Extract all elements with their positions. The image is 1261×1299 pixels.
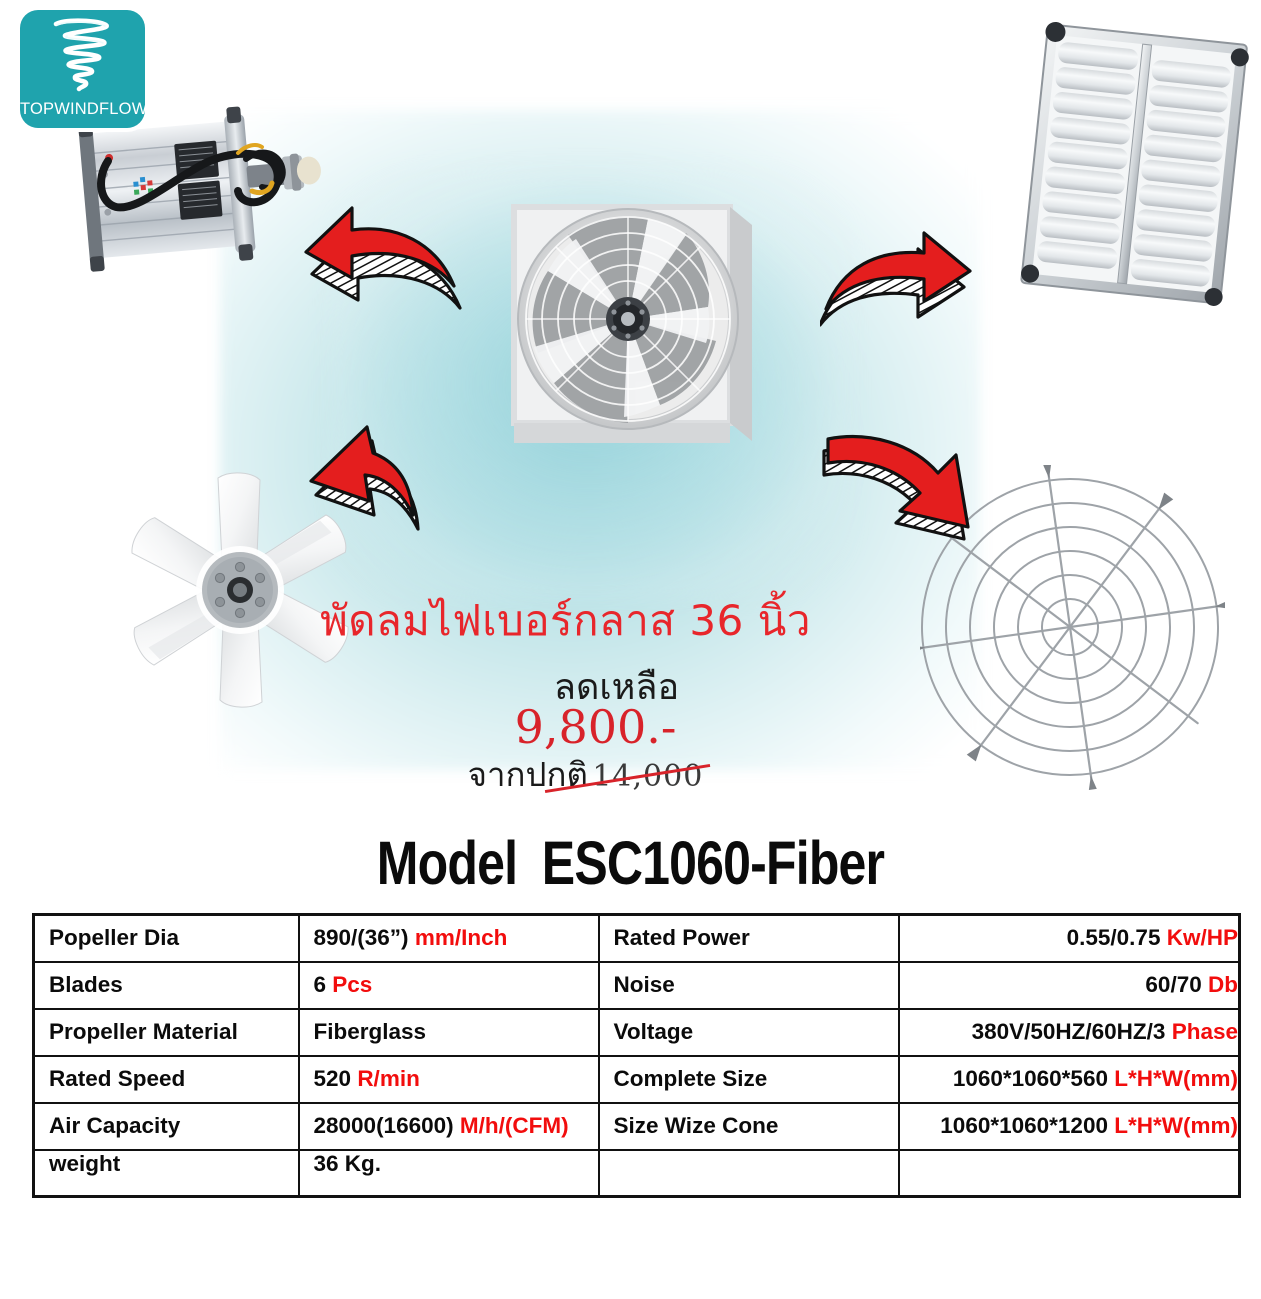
tornado-swirl-icon [36, 16, 130, 94]
spec-value: 36 Kg. [299, 1150, 599, 1197]
table-row: Blades 6 Pcs Noise 60/70 Db [34, 962, 1240, 1009]
spec-label: weight [34, 1150, 299, 1197]
spec-value-text: 520 [314, 1066, 352, 1091]
spec-value: 380V/50HZ/60HZ/3 Phase [899, 1009, 1240, 1056]
spec-value: 1060*1060*560 L*H*W(mm) [899, 1056, 1240, 1103]
table-row: weight 36 Kg. [34, 1150, 1240, 1197]
table-row: Rated Speed 520 R/min Complete Size 1060… [34, 1056, 1240, 1103]
spec-value-text: Fiberglass [314, 1019, 427, 1044]
spec-label: Air Capacity [34, 1103, 299, 1150]
spec-value-text: 1060*1060*1200 [940, 1113, 1108, 1138]
page-title: ModelESC1060-Fiber [113, 828, 1147, 898]
arrow-bottom-right [822, 415, 987, 550]
logo-text: TOPWINDFLOW [20, 100, 145, 119]
spec-label: Complete Size [599, 1056, 899, 1103]
spec-label [599, 1150, 899, 1197]
spec-value: Fiberglass [299, 1009, 599, 1056]
promo-original-price-strikethrough: 14,000 [592, 759, 703, 794]
promo-title: พัดลมไฟเบอร์กลาส 36 นิ้ว [0, 588, 1261, 654]
spec-value: 1060*1060*1200 L*H*W(mm) [899, 1103, 1240, 1150]
spec-unit: L*H*W(mm) [1114, 1066, 1238, 1091]
model-label: Model [377, 829, 517, 897]
spec-unit: R/min [357, 1066, 420, 1091]
spec-unit: M/h/(CFM) [460, 1113, 569, 1138]
spec-label: Rated Speed [34, 1056, 299, 1103]
spec-value-text: 1060*1060*560 [953, 1066, 1108, 1091]
spec-value-text: 60/70 [1145, 972, 1201, 997]
spec-label: Popeller Dia [34, 915, 299, 962]
table-row: Popeller Dia 890/(36”) mm/Inch Rated Pow… [34, 915, 1240, 962]
spec-value-text: 380V/50HZ/60HZ/3 [972, 1019, 1166, 1044]
promo-sale-price: 9,800.- [0, 700, 1261, 754]
arrow-top-right [820, 225, 990, 335]
spec-label: Size Wize Cone [599, 1103, 899, 1150]
louver-shutter-image [1020, 20, 1250, 310]
spec-value: 890/(36”) mm/Inch [299, 915, 599, 962]
fan-unit-image [490, 195, 775, 465]
spec-label: Blades [34, 962, 299, 1009]
spec-value-text: 890/(36”) [314, 925, 409, 950]
arrow-bottom-left [295, 415, 425, 540]
spec-label: Propeller Material [34, 1009, 299, 1056]
spec-value: 28000(16600) M/h/(CFM) [299, 1103, 599, 1150]
model-value: ESC1060-Fiber [542, 829, 884, 897]
table-row: Propeller Material Fiberglass Voltage 38… [34, 1009, 1240, 1056]
spec-unit: L*H*W(mm) [1114, 1113, 1238, 1138]
spec-value [899, 1150, 1240, 1197]
spec-value: 520 R/min [299, 1056, 599, 1103]
spec-unit: Kw/HP [1167, 925, 1238, 950]
spec-unit: mm/Inch [415, 925, 508, 950]
promo-original-price-row: จากปกติ 14,000 [0, 748, 1261, 801]
promo-original-price-value: 14,000 [592, 759, 703, 794]
spec-unit: Pcs [332, 972, 372, 997]
spec-value: 60/70 Db [899, 962, 1240, 1009]
spec-unit: Phase [1172, 1019, 1238, 1044]
table-row: Air Capacity 28000(16600) M/h/(CFM) Size… [34, 1103, 1240, 1150]
spec-unit: Db [1208, 972, 1238, 997]
brand-logo: TOPWINDFLOW [20, 10, 145, 128]
product-advertisement-page: TOPWINDFLOW [0, 0, 1261, 1299]
spec-value-text: 0.55/0.75 [1067, 925, 1161, 950]
arrow-top-left [278, 190, 463, 325]
spec-value-text: 28000(16600) [314, 1113, 454, 1138]
spec-value: 0.55/0.75 Kw/HP [899, 915, 1240, 962]
specification-table: Popeller Dia 890/(36”) mm/Inch Rated Pow… [32, 913, 1241, 1198]
spec-label: Voltage [599, 1009, 899, 1056]
spec-label: Noise [599, 962, 899, 1009]
spec-value-text: 6 [314, 972, 327, 997]
spec-value: 6 Pcs [299, 962, 599, 1009]
spec-label: Rated Power [599, 915, 899, 962]
spec-value-text: 36 Kg. [314, 1151, 382, 1176]
